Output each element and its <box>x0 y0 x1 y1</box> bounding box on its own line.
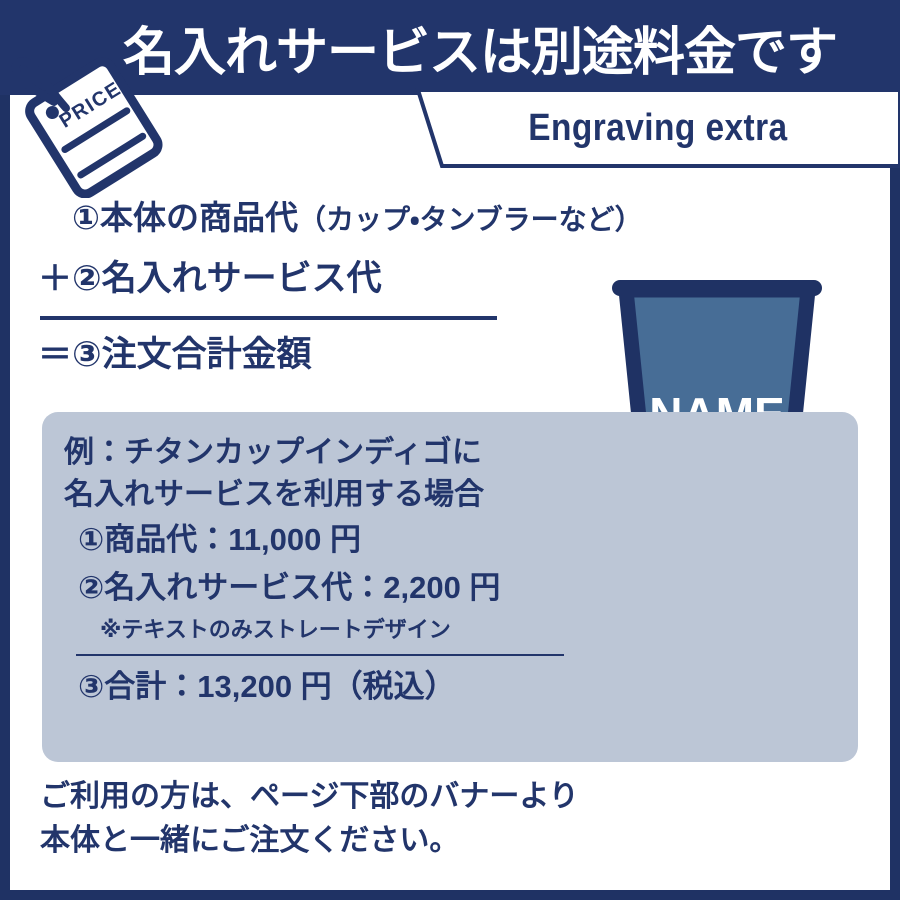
formula-operator: ＋ <box>38 248 72 310</box>
engraving-extra-label: Engraving extra <box>430 88 870 168</box>
example-note: ※テキストのみストレートデザイン <box>64 612 858 648</box>
example-item-product-price: ①商品代：11,000 円 <box>64 516 858 564</box>
formula-row: ＝ ③注文合計金額 <box>38 326 598 384</box>
example-card: 例：チタンカップインディゴに 名入れサービスを利用する場合 ①商品代：11,00… <box>42 412 858 762</box>
example-divider <box>76 654 564 656</box>
formula-row: ①本体の商品代 （カップ・タンブラーなど） <box>38 190 598 248</box>
price-tag-icon: PRICE <box>8 48 168 198</box>
example-heading-line1: 例：チタンカップインディゴに <box>64 432 858 474</box>
example-total: ③合計：13,200 円（税込） <box>64 662 858 712</box>
footer-note: ご利用の方は、ページ下部のバナーより 本体と一緒にご注文ください。 <box>40 775 840 863</box>
promo-poster: 名入れサービスは別途料金です Engraving extra PRICE ①本体… <box>0 0 900 900</box>
price-formula: ①本体の商品代 （カップ・タンブラーなど） ＋ ②名入れサービス代 ＝ ③注文合… <box>38 190 598 384</box>
formula-term-main: ③注文合計金額 <box>72 326 312 384</box>
formula-row: ＋ ②名入れサービス代 <box>38 248 598 310</box>
footer-note-line2: 本体と一緒にご注文ください。 <box>40 819 840 863</box>
example-item-engraving-fee: ②名入れサービス代：2,200 円 <box>64 564 858 612</box>
formula-term-sub: （カップ・タンブラーなど） <box>298 192 643 248</box>
formula-term-main: ①本体の商品代 <box>72 190 298 246</box>
example-heading-line2: 名入れサービスを利用する場合 <box>64 474 858 516</box>
formula-operator: ＝ <box>38 326 72 384</box>
formula-divider <box>40 316 497 320</box>
formula-term-main: ②名入れサービス代 <box>72 248 382 310</box>
footer-note-line1: ご利用の方は、ページ下部のバナーより <box>40 775 840 819</box>
engraving-extra-banner: Engraving extra <box>400 88 900 168</box>
